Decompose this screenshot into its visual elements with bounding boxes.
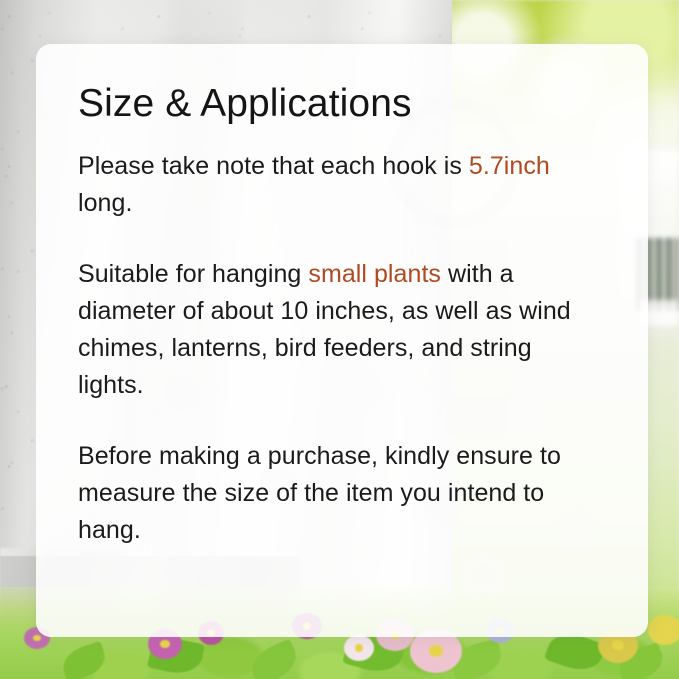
flower-blossom [344,635,374,661]
page-title: Size & Applications [78,82,604,126]
paragraph-hook-length: Please take note that each hook is 5.7in… [78,148,598,222]
paragraph-suitable-for: Suitable for hanging small plants with a… [78,256,598,404]
paragraph-hook-length-text-before: Please take note that each hook is [78,152,469,180]
flower-blossom [648,615,679,645]
paragraph-hook-length-text-after: long. [78,189,132,217]
highlight-hook-length: 5.7inch [469,152,550,180]
paragraph-measure-first: Before making a purchase, kindly ensure … [78,438,598,549]
highlight-small-plants: small plants [308,260,441,288]
card-body: Please take note that each hook is 5.7in… [78,148,604,549]
paragraph-suitable-for-text-before: Suitable for hanging [78,260,308,288]
info-card: Size & Applications Please take note tha… [36,44,648,637]
product-infographic-slide: Size & Applications Please take note tha… [0,0,679,679]
